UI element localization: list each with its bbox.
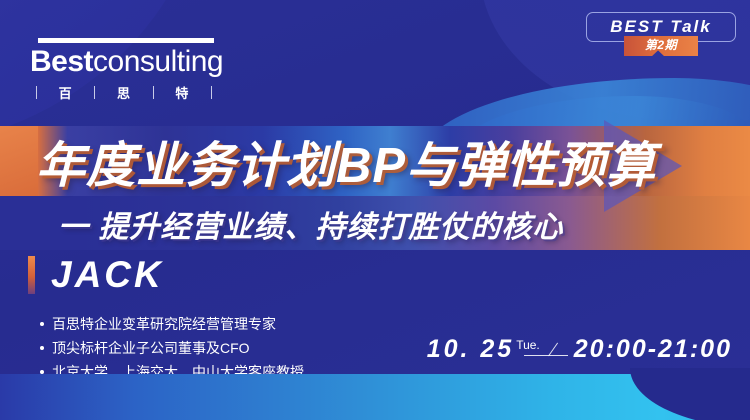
logo-chinese-name: 百 思 特 [36, 83, 212, 102]
episode-ribbon: 第2期 [624, 36, 698, 56]
page-title: 年度业务计划BP与弹性预算 [36, 128, 736, 194]
logo-divider-icon [36, 86, 37, 99]
credential-text: 顶尖标杆企业子公司董事及CFO [52, 337, 250, 359]
logo-wordmark-consulting: consulting [93, 45, 223, 78]
logo-cn-char-2: 思 [117, 83, 131, 102]
episode-ribbon-wrap: 第2期 [624, 36, 698, 56]
logo-divider-icon [211, 86, 212, 99]
list-item: 顶尖标杆企业子公司董事及CFO [40, 337, 304, 359]
logo-top-rule [38, 38, 214, 43]
schedule-date: 10. 25 [427, 336, 515, 362]
page-subtitle: 一 提升经营业绩、持续打胜仗的核心 [58, 202, 750, 246]
logo-divider-icon [94, 86, 95, 99]
speaker-block: JACK [28, 256, 164, 294]
badge-title: BEST Talk [610, 17, 711, 37]
speaker-name: JACK [51, 256, 164, 294]
schedule-separator-icon [542, 336, 572, 362]
speaker-accent-bar [28, 256, 35, 294]
bullet-dot-icon [40, 346, 44, 350]
list-item: 百思特企业变革研究院经营管理专家 [40, 313, 304, 335]
logo-wordmark-best: Best [30, 45, 93, 78]
logo-cn-char-1: 百 [59, 83, 73, 102]
best-talk-badge: BEST Talk 第2期 [586, 12, 736, 56]
credential-text: 百思特企业变革研究院经营管理专家 [52, 313, 276, 335]
episode-label: 第2期 [645, 36, 677, 53]
bullet-dot-icon [40, 322, 44, 326]
schedule-weekday: Tue. [516, 339, 540, 351]
brand-logo: Bestconsulting 百 思 特 [30, 38, 215, 102]
logo-divider-icon [153, 86, 154, 99]
title-band-orange-cap [0, 126, 38, 196]
webinar-poster: Bestconsulting 百 思 特 BEST Talk 第2期 年度业务计… [0, 0, 750, 420]
logo-cn-char-3: 特 [175, 83, 189, 102]
logo-wordmark: Bestconsulting [30, 46, 215, 78]
schedule-block: 10. 25 Tue. 20:00-21:00 [427, 336, 732, 362]
schedule-time: 20:00-21:00 [574, 336, 732, 362]
